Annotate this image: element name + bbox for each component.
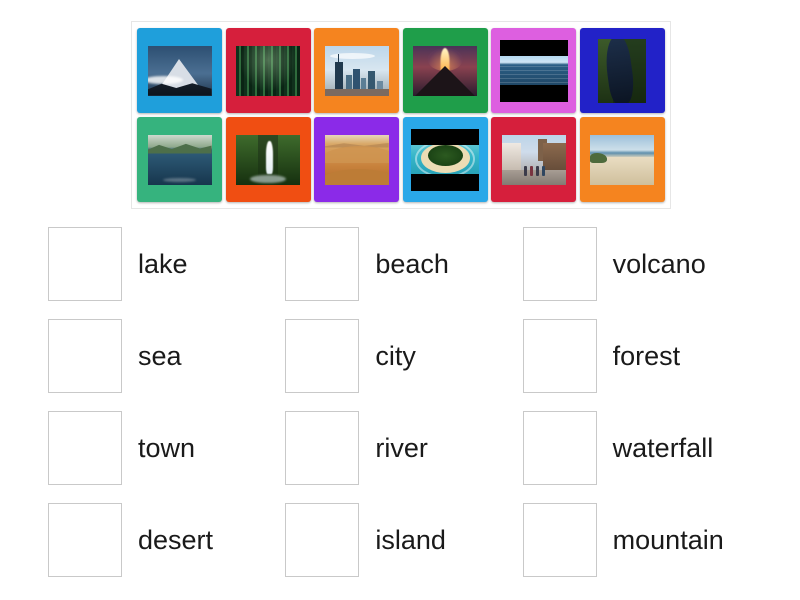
drop-zone-river[interactable] <box>285 411 359 485</box>
answer-grid: lake beach volcano sea city forest town <box>48 218 760 586</box>
drop-zone-town[interactable] <box>48 411 122 485</box>
drop-zone-waterfall[interactable] <box>523 411 597 485</box>
answer-cell-lake: lake <box>48 218 285 310</box>
tile-mountain[interactable] <box>137 28 222 113</box>
drop-zone-lake[interactable] <box>48 227 122 301</box>
match-up-activity: lake beach volcano sea city forest town <box>0 0 800 600</box>
answer-cell-city: city <box>285 310 522 402</box>
answer-label: desert <box>138 527 213 554</box>
answer-label: volcano <box>613 251 706 278</box>
tile-beach[interactable] <box>580 117 665 202</box>
drop-zone-desert[interactable] <box>48 503 122 577</box>
answer-label: town <box>138 435 195 462</box>
answer-cell-forest: forest <box>523 310 760 402</box>
drop-zone-mountain[interactable] <box>523 503 597 577</box>
island-photo-tile <box>411 129 479 191</box>
tile-city[interactable] <box>314 28 399 113</box>
tile-sea[interactable] <box>491 28 576 113</box>
tile-row <box>137 117 665 202</box>
answer-label: sea <box>138 343 182 370</box>
drop-zone-beach[interactable] <box>285 227 359 301</box>
drop-zone-volcano[interactable] <box>523 227 597 301</box>
answer-cell-volcano: volcano <box>523 218 760 310</box>
tile-waterfall[interactable] <box>226 117 311 202</box>
tile-desert[interactable] <box>314 117 399 202</box>
drop-zone-forest[interactable] <box>523 319 597 393</box>
answer-cell-town: town <box>48 402 285 494</box>
tile-lake[interactable] <box>137 117 222 202</box>
mountain-photo-tile <box>148 46 212 96</box>
answer-label: waterfall <box>613 435 714 462</box>
answer-label: island <box>375 527 446 554</box>
answer-cell-mountain: mountain <box>523 494 760 586</box>
tile-forest[interactable] <box>226 28 311 113</box>
tile-river[interactable] <box>580 28 665 113</box>
drop-zone-city[interactable] <box>285 319 359 393</box>
answer-cell-island: island <box>285 494 522 586</box>
tile-island[interactable] <box>403 117 488 202</box>
forest-photo-tile <box>236 46 300 96</box>
answer-cell-beach: beach <box>285 218 522 310</box>
waterfall-photo-tile <box>236 135 300 185</box>
answer-label: mountain <box>613 527 724 554</box>
tile-town[interactable] <box>491 117 576 202</box>
answer-label: river <box>375 435 428 462</box>
answer-label: forest <box>613 343 681 370</box>
answer-cell-waterfall: waterfall <box>523 402 760 494</box>
answer-cell-desert: desert <box>48 494 285 586</box>
beach-photo-tile <box>590 135 654 185</box>
answer-label: lake <box>138 251 188 278</box>
lake-photo-tile <box>148 135 212 185</box>
image-tile-tray <box>131 21 671 209</box>
drop-zone-sea[interactable] <box>48 319 122 393</box>
answer-cell-sea: sea <box>48 310 285 402</box>
answer-cell-river: river <box>285 402 522 494</box>
river-photo-tile <box>598 39 646 103</box>
sea-photo-tile <box>500 40 568 102</box>
answer-label: city <box>375 343 416 370</box>
town-photo-tile <box>502 135 566 185</box>
city-photo-tile <box>325 46 389 96</box>
answer-label: beach <box>375 251 449 278</box>
tile-volcano[interactable] <box>403 28 488 113</box>
desert-photo-tile <box>325 135 389 185</box>
volcano-photo-tile <box>413 46 477 96</box>
drop-zone-island[interactable] <box>285 503 359 577</box>
tile-row <box>137 28 665 113</box>
